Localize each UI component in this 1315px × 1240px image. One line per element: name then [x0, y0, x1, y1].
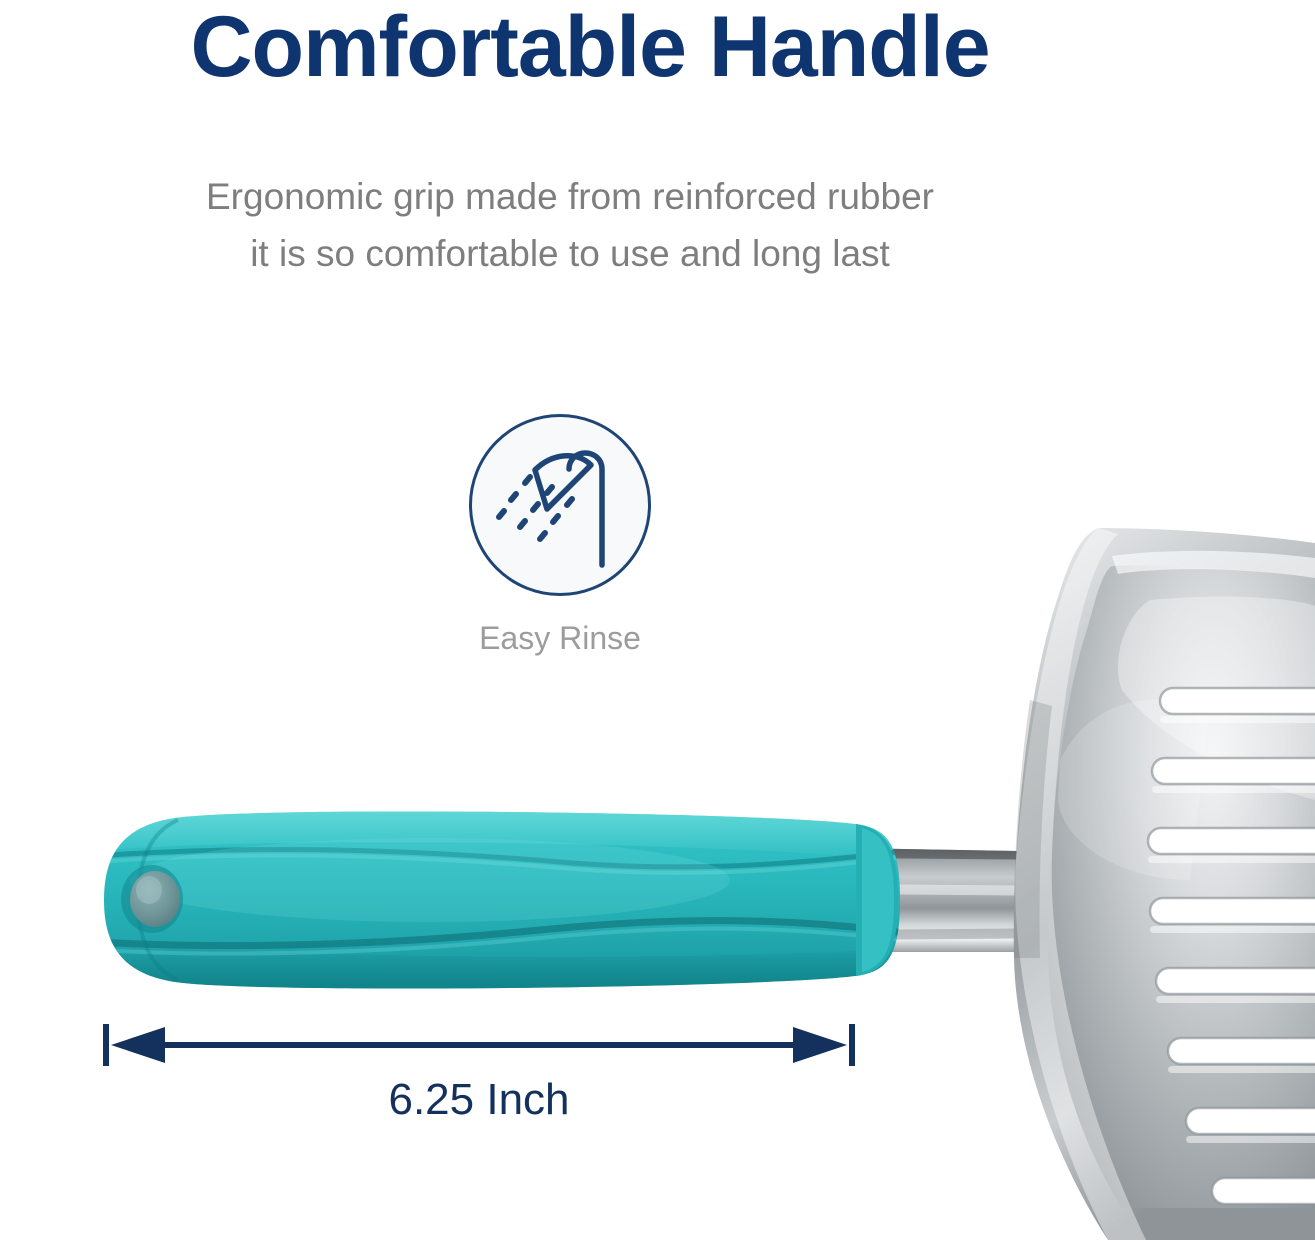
scoop-metal-shaft — [845, 846, 1100, 956]
dimension-label: 6.25 Inch — [103, 1075, 855, 1125]
page-title: Comfortable Handle — [0, 2, 1180, 92]
product-infographic: Comfortable Handle Ergonomic grip made f… — [0, 0, 1315, 1240]
arrowhead-left — [111, 1027, 165, 1063]
shower-rinse-icon — [472, 417, 648, 593]
feature-label: Easy Rinse — [469, 620, 651, 657]
dimension-arrow — [103, 1022, 855, 1068]
hanging-hole-insert — [130, 871, 180, 927]
feature-badge: Easy Rinse — [469, 414, 659, 657]
water-droplets — [499, 477, 572, 539]
subtitle-line-2: it is so comfortable to use and long las… — [0, 225, 1140, 282]
hanging-hole-recess — [121, 865, 183, 933]
scoop-bowl — [1014, 528, 1315, 1240]
page-subtitle: Ergonomic grip made from reinforced rubb… — [0, 168, 1140, 283]
rubber-handle — [96, 804, 912, 1000]
subtitle-line-1: Ergonomic grip made from reinforced rubb… — [0, 168, 1140, 225]
scoop-slots — [1148, 688, 1315, 1204]
arrowhead-right — [793, 1027, 847, 1063]
badge-circle — [469, 414, 651, 596]
